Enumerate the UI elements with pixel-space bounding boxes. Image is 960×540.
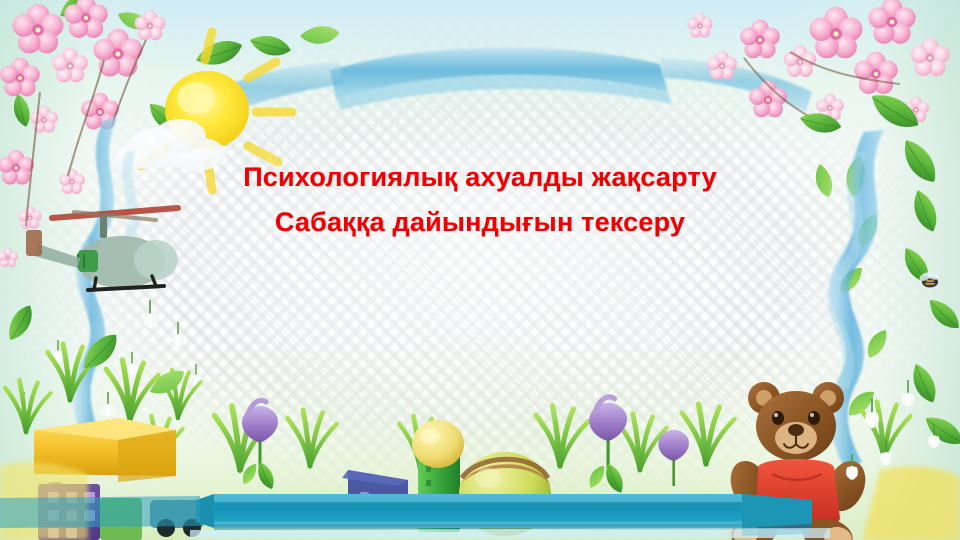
slide-title-block: Психологиялық ахуалды жақсарту Сабаққа д… (0, 155, 960, 245)
title-line-1: Психологиялық ахуалды жақсарту (0, 155, 960, 200)
presentation-slide: Психологиялық ахуалды жақсарту Сабаққа д… (0, 0, 960, 540)
title-line-2: Сабаққа дайындығын тексеру (0, 200, 960, 245)
slide-background-texture (0, 0, 960, 540)
